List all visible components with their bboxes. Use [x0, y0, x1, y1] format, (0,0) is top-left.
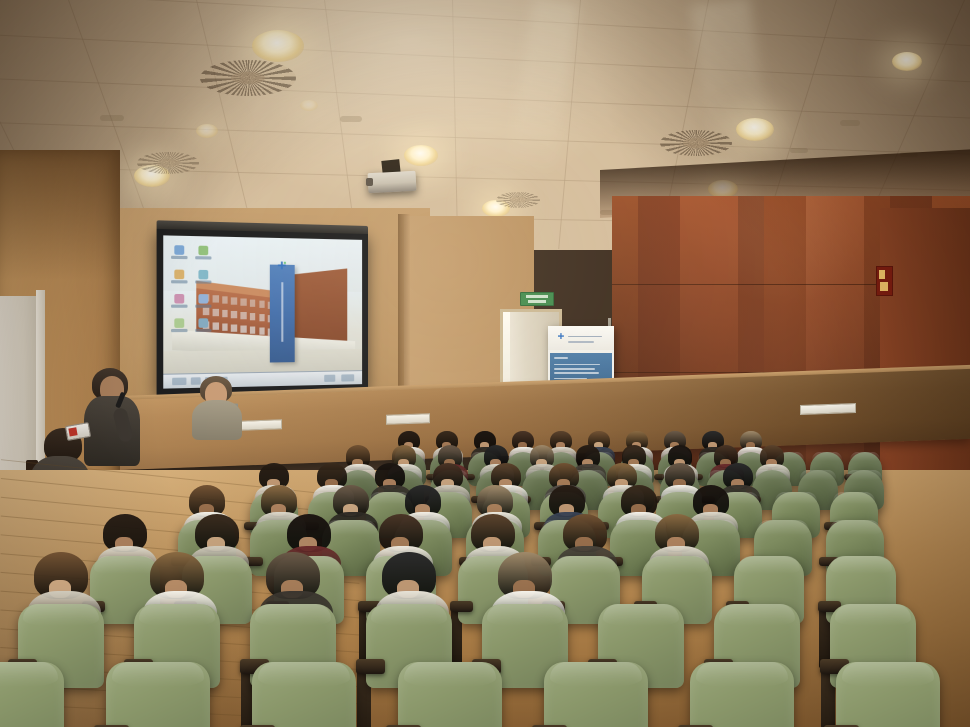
projection-screen	[157, 229, 368, 395]
fire-equipment-sign	[876, 266, 893, 296]
auditorium-seat[interactable]	[106, 662, 210, 727]
desktop-icon[interactable]	[174, 318, 184, 328]
auditorium-seat[interactable]	[0, 662, 64, 727]
wall-panel	[806, 196, 864, 496]
auditorium-seat[interactable]	[398, 662, 502, 727]
ceiling-downlight	[736, 118, 774, 141]
seat-armrest	[356, 659, 385, 673]
wallpaper-window	[231, 297, 237, 305]
wallpaper-window	[231, 324, 237, 332]
auditorium-photo	[0, 0, 970, 727]
air-diffuser	[200, 60, 296, 96]
air-diffuser	[496, 192, 540, 208]
air-diffuser	[137, 152, 199, 174]
wallpaper-window	[259, 314, 265, 321]
wallpaper-window	[240, 325, 246, 332]
wallpaper-window	[212, 322, 218, 330]
air-diffuser	[660, 130, 732, 156]
wallpaper-window	[203, 307, 209, 315]
cross-logo-icon	[273, 261, 291, 272]
wallpaper-window	[250, 300, 256, 307]
auditorium-seat[interactable]	[836, 662, 940, 727]
wallpaper-building-right	[293, 268, 347, 348]
auditorium-seat[interactable]	[690, 662, 794, 727]
wallpaper-window	[222, 296, 228, 304]
wallpaper-window	[259, 328, 265, 335]
name-placard	[800, 403, 856, 415]
desktop-icon[interactable]	[199, 318, 209, 327]
wallpaper-window	[250, 327, 256, 334]
far-right-wall	[880, 208, 970, 508]
ceiling-projector	[368, 171, 417, 193]
ceiling-downlight	[404, 145, 438, 166]
screen-surface	[163, 235, 362, 388]
wallpaper-window	[240, 312, 246, 319]
wallpaper-window	[259, 301, 265, 308]
wallpaper-window	[222, 310, 228, 318]
presenter-seated	[192, 376, 242, 436]
projector-lens	[366, 178, 373, 186]
wallpaper-window	[250, 313, 256, 320]
ceiling-downlight	[300, 100, 318, 111]
exit-sign	[520, 292, 554, 306]
wallpaper-window	[222, 323, 228, 331]
desktop-icon[interactable]	[174, 294, 184, 304]
desktop-icon[interactable]	[174, 269, 184, 279]
ceiling-downlight	[252, 30, 304, 62]
ceiling-downlight	[196, 124, 218, 138]
desktop-icon[interactable]	[199, 294, 209, 304]
wallpaper-window	[212, 309, 218, 317]
auditorium-seat[interactable]	[252, 662, 356, 727]
ceiling-downlight	[892, 52, 922, 71]
desktop-icon[interactable]	[199, 245, 209, 255]
wallpaper-window	[240, 299, 246, 306]
banner-cross-logo-icon	[557, 331, 565, 342]
wallpaper-window	[231, 311, 237, 318]
desktop-icon[interactable]	[199, 270, 209, 280]
auditorium-seat[interactable]	[544, 662, 648, 727]
wallpaper-window	[212, 295, 218, 303]
presenter-standing	[84, 368, 140, 464]
desktop-icon[interactable]	[174, 245, 184, 255]
name-placard	[240, 419, 282, 430]
seat-armrest	[450, 601, 474, 613]
name-placard	[386, 413, 430, 425]
